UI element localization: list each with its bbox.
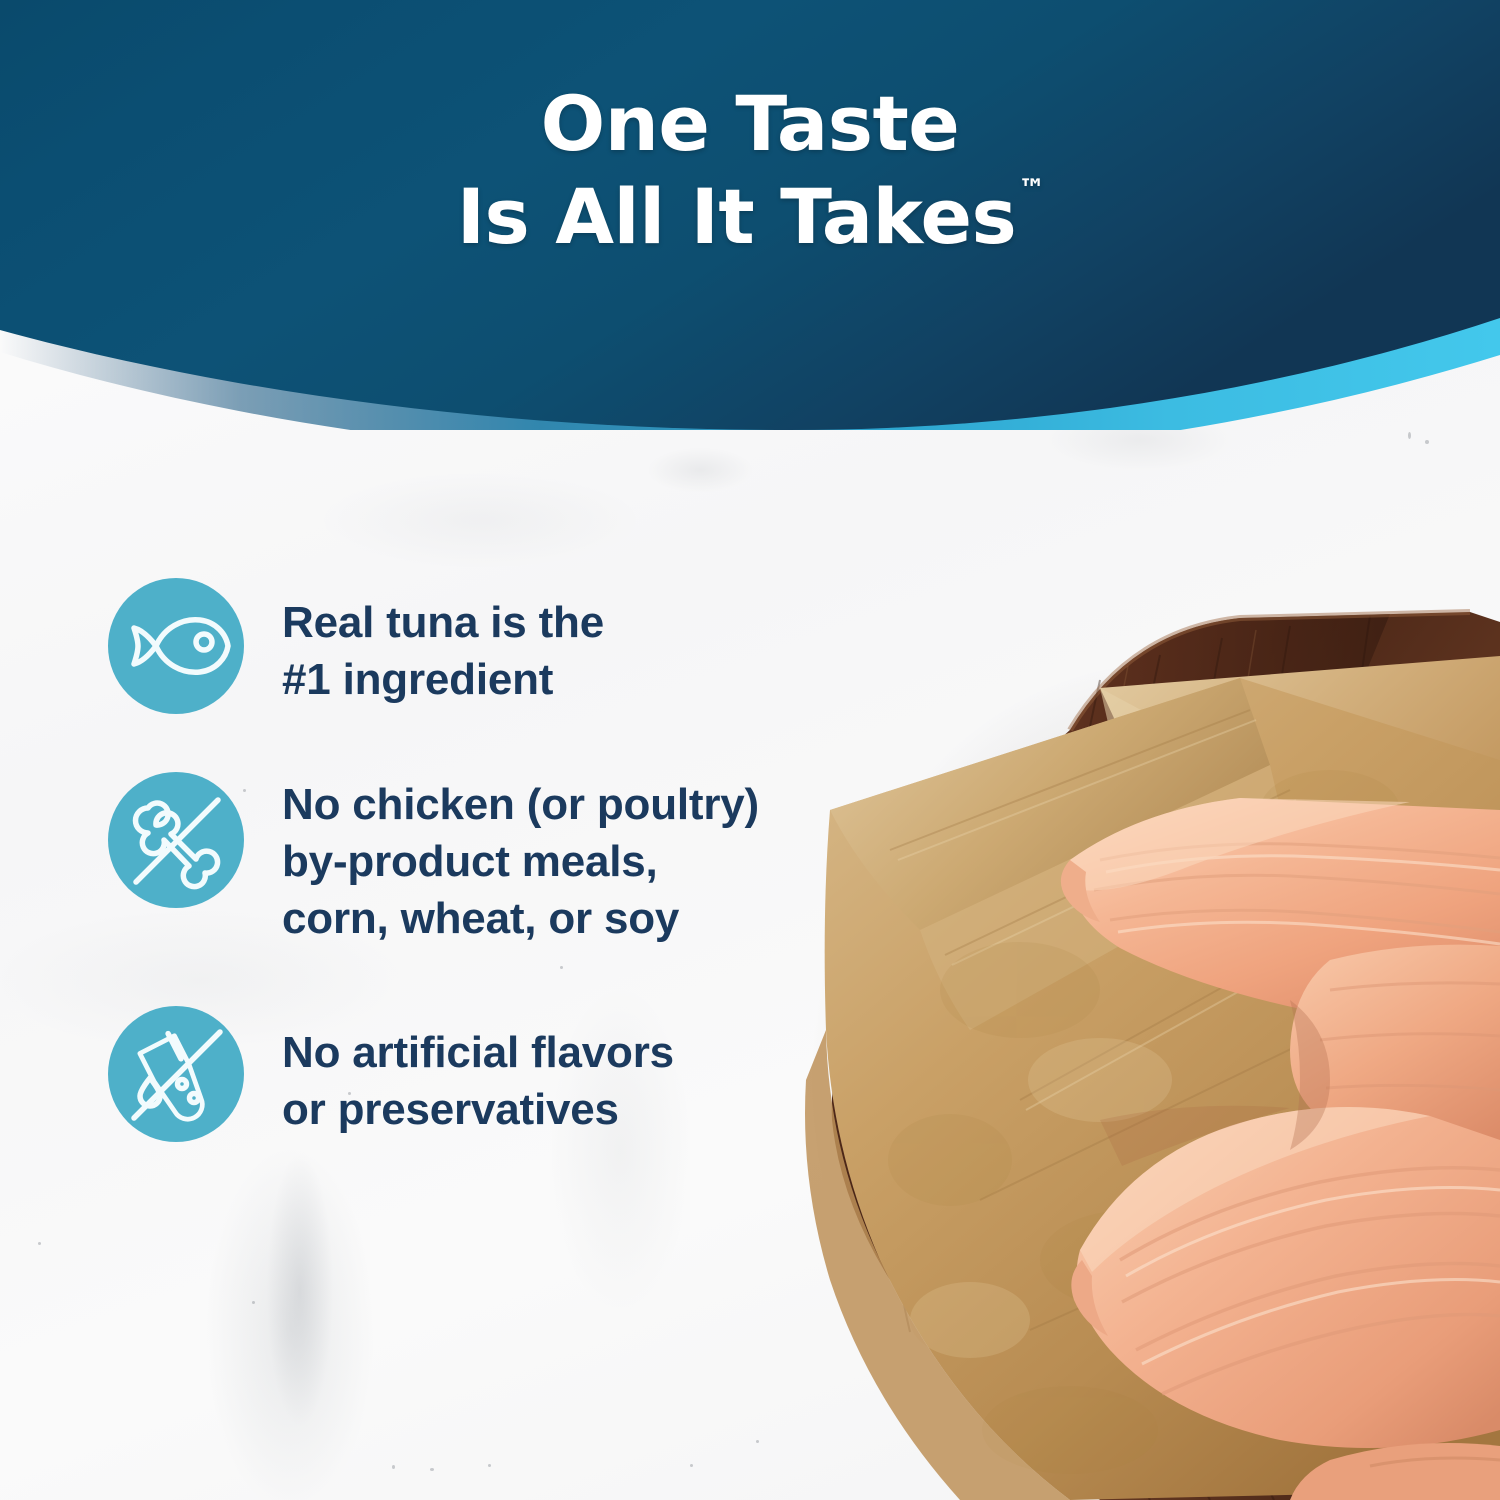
- product-infographic: One Taste Is All It Takes™ Real tuna is …: [0, 0, 1500, 1500]
- list-item-label: Real tuna is the #1 ingredient: [282, 578, 604, 708]
- marble-speck: [1425, 440, 1429, 444]
- marble-speck: [690, 1464, 693, 1467]
- marble-speck: [392, 1465, 395, 1469]
- page-title: One Taste Is All It Takes™: [0, 78, 1500, 263]
- marble-speck: [1408, 432, 1411, 439]
- trademark-symbol: ™: [1018, 174, 1045, 205]
- header-banner: One Taste Is All It Takes™: [0, 0, 1500, 430]
- no-bone-icon: [108, 772, 244, 908]
- fish-icon: [108, 578, 244, 714]
- marble-speck: [430, 1468, 434, 1471]
- tuna-photo: [770, 560, 1500, 1500]
- marble-speck: [488, 1464, 491, 1467]
- marble-speck: [38, 1242, 41, 1245]
- marble-speck: [252, 1301, 255, 1304]
- no-test-tube-icon: [108, 1006, 244, 1142]
- headline-line-2: Is All It Takes: [457, 172, 1017, 261]
- feature-list: Real tuna is the #1 ingredient No chicke…: [108, 578, 868, 1142]
- marble-speck: [756, 1440, 759, 1443]
- list-item: No chicken (or poultry) by-product meals…: [108, 772, 868, 948]
- list-item-label: No artificial flavors or preservatives: [282, 1006, 674, 1138]
- list-item: No artificial flavors or preservatives: [108, 1006, 868, 1142]
- list-item: Real tuna is the #1 ingredient: [108, 578, 868, 714]
- list-item-label: No chicken (or poultry) by-product meals…: [282, 772, 759, 948]
- headline-line-1: One Taste: [541, 79, 960, 168]
